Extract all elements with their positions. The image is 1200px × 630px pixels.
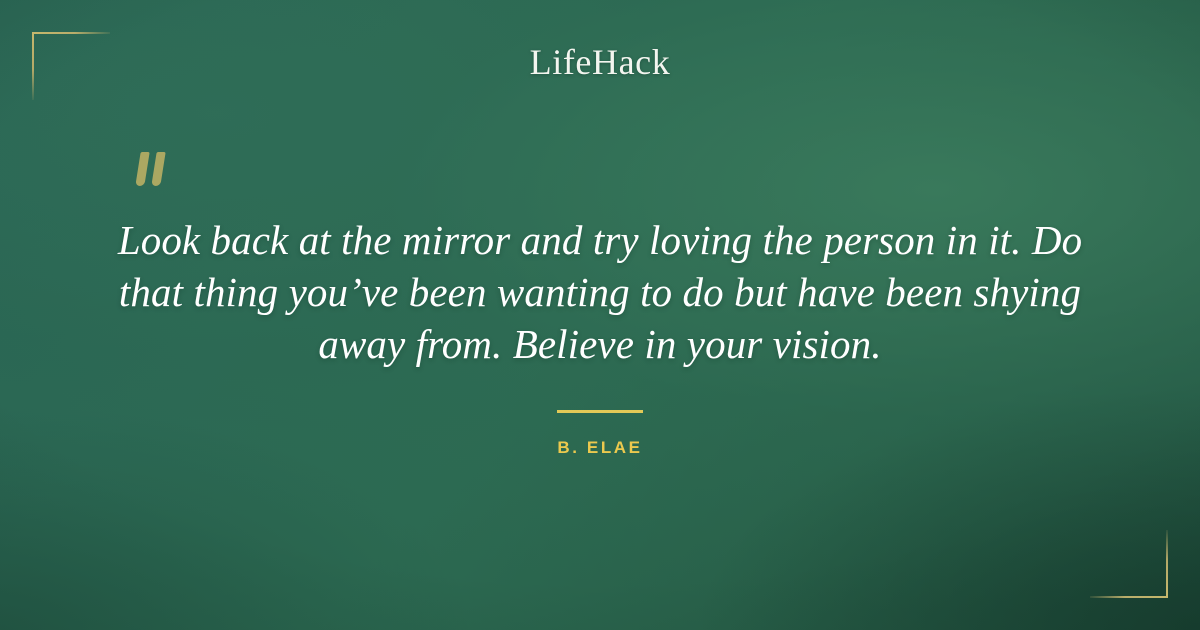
quote-line: away from. Believe in your vision. [100, 318, 1100, 370]
corner-bracket-bottom-right-icon [1090, 530, 1168, 598]
divider-rule [557, 410, 643, 413]
quotation-mark-stroke-right [151, 152, 165, 186]
corner-bracket-right-line [1166, 530, 1168, 598]
quote-line: that thing you’ve been wanting to do but… [100, 266, 1100, 318]
corner-bracket-bottom-line [1090, 596, 1168, 598]
quotation-mark-icon [133, 144, 177, 190]
quote-author: B. ELAE [0, 438, 1200, 458]
quote-line: Look back at the mirror and try loving t… [100, 214, 1100, 266]
quote-card: LifeHack Look back at the mirror and try… [0, 0, 1200, 630]
brand-logo: LifeHack [0, 41, 1200, 83]
quotation-mark-stroke-left [135, 152, 149, 186]
quote-text: Look back at the mirror and try loving t… [100, 214, 1100, 370]
corner-bracket-top-line [32, 32, 110, 34]
